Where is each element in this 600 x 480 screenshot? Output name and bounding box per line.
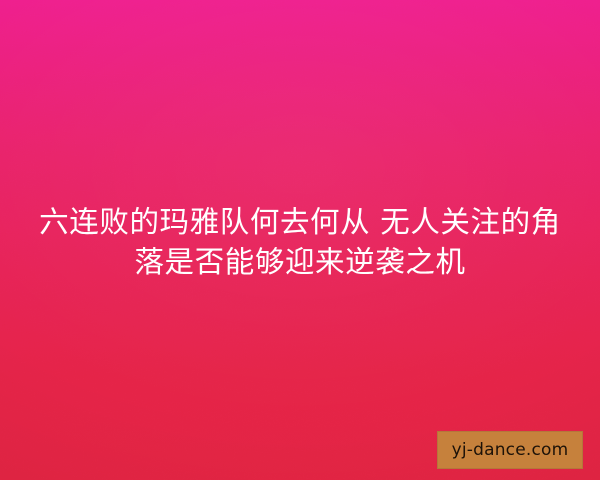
headline-text: 六连败的玛雅队何去何从 无人关注的角 落是否能够迎来逆袭之机 xyxy=(0,202,600,282)
watermark-badge: yj-dance.com xyxy=(437,431,583,469)
headline-line-1: 六连败的玛雅队何去何从 无人关注的角 xyxy=(26,202,574,242)
image-canvas: 六连败的玛雅队何去何从 无人关注的角 落是否能够迎来逆袭之机 yj-dance.… xyxy=(0,0,600,480)
headline-line-2: 落是否能够迎来逆袭之机 xyxy=(26,242,574,282)
watermark-label: yj-dance.com xyxy=(452,442,569,459)
